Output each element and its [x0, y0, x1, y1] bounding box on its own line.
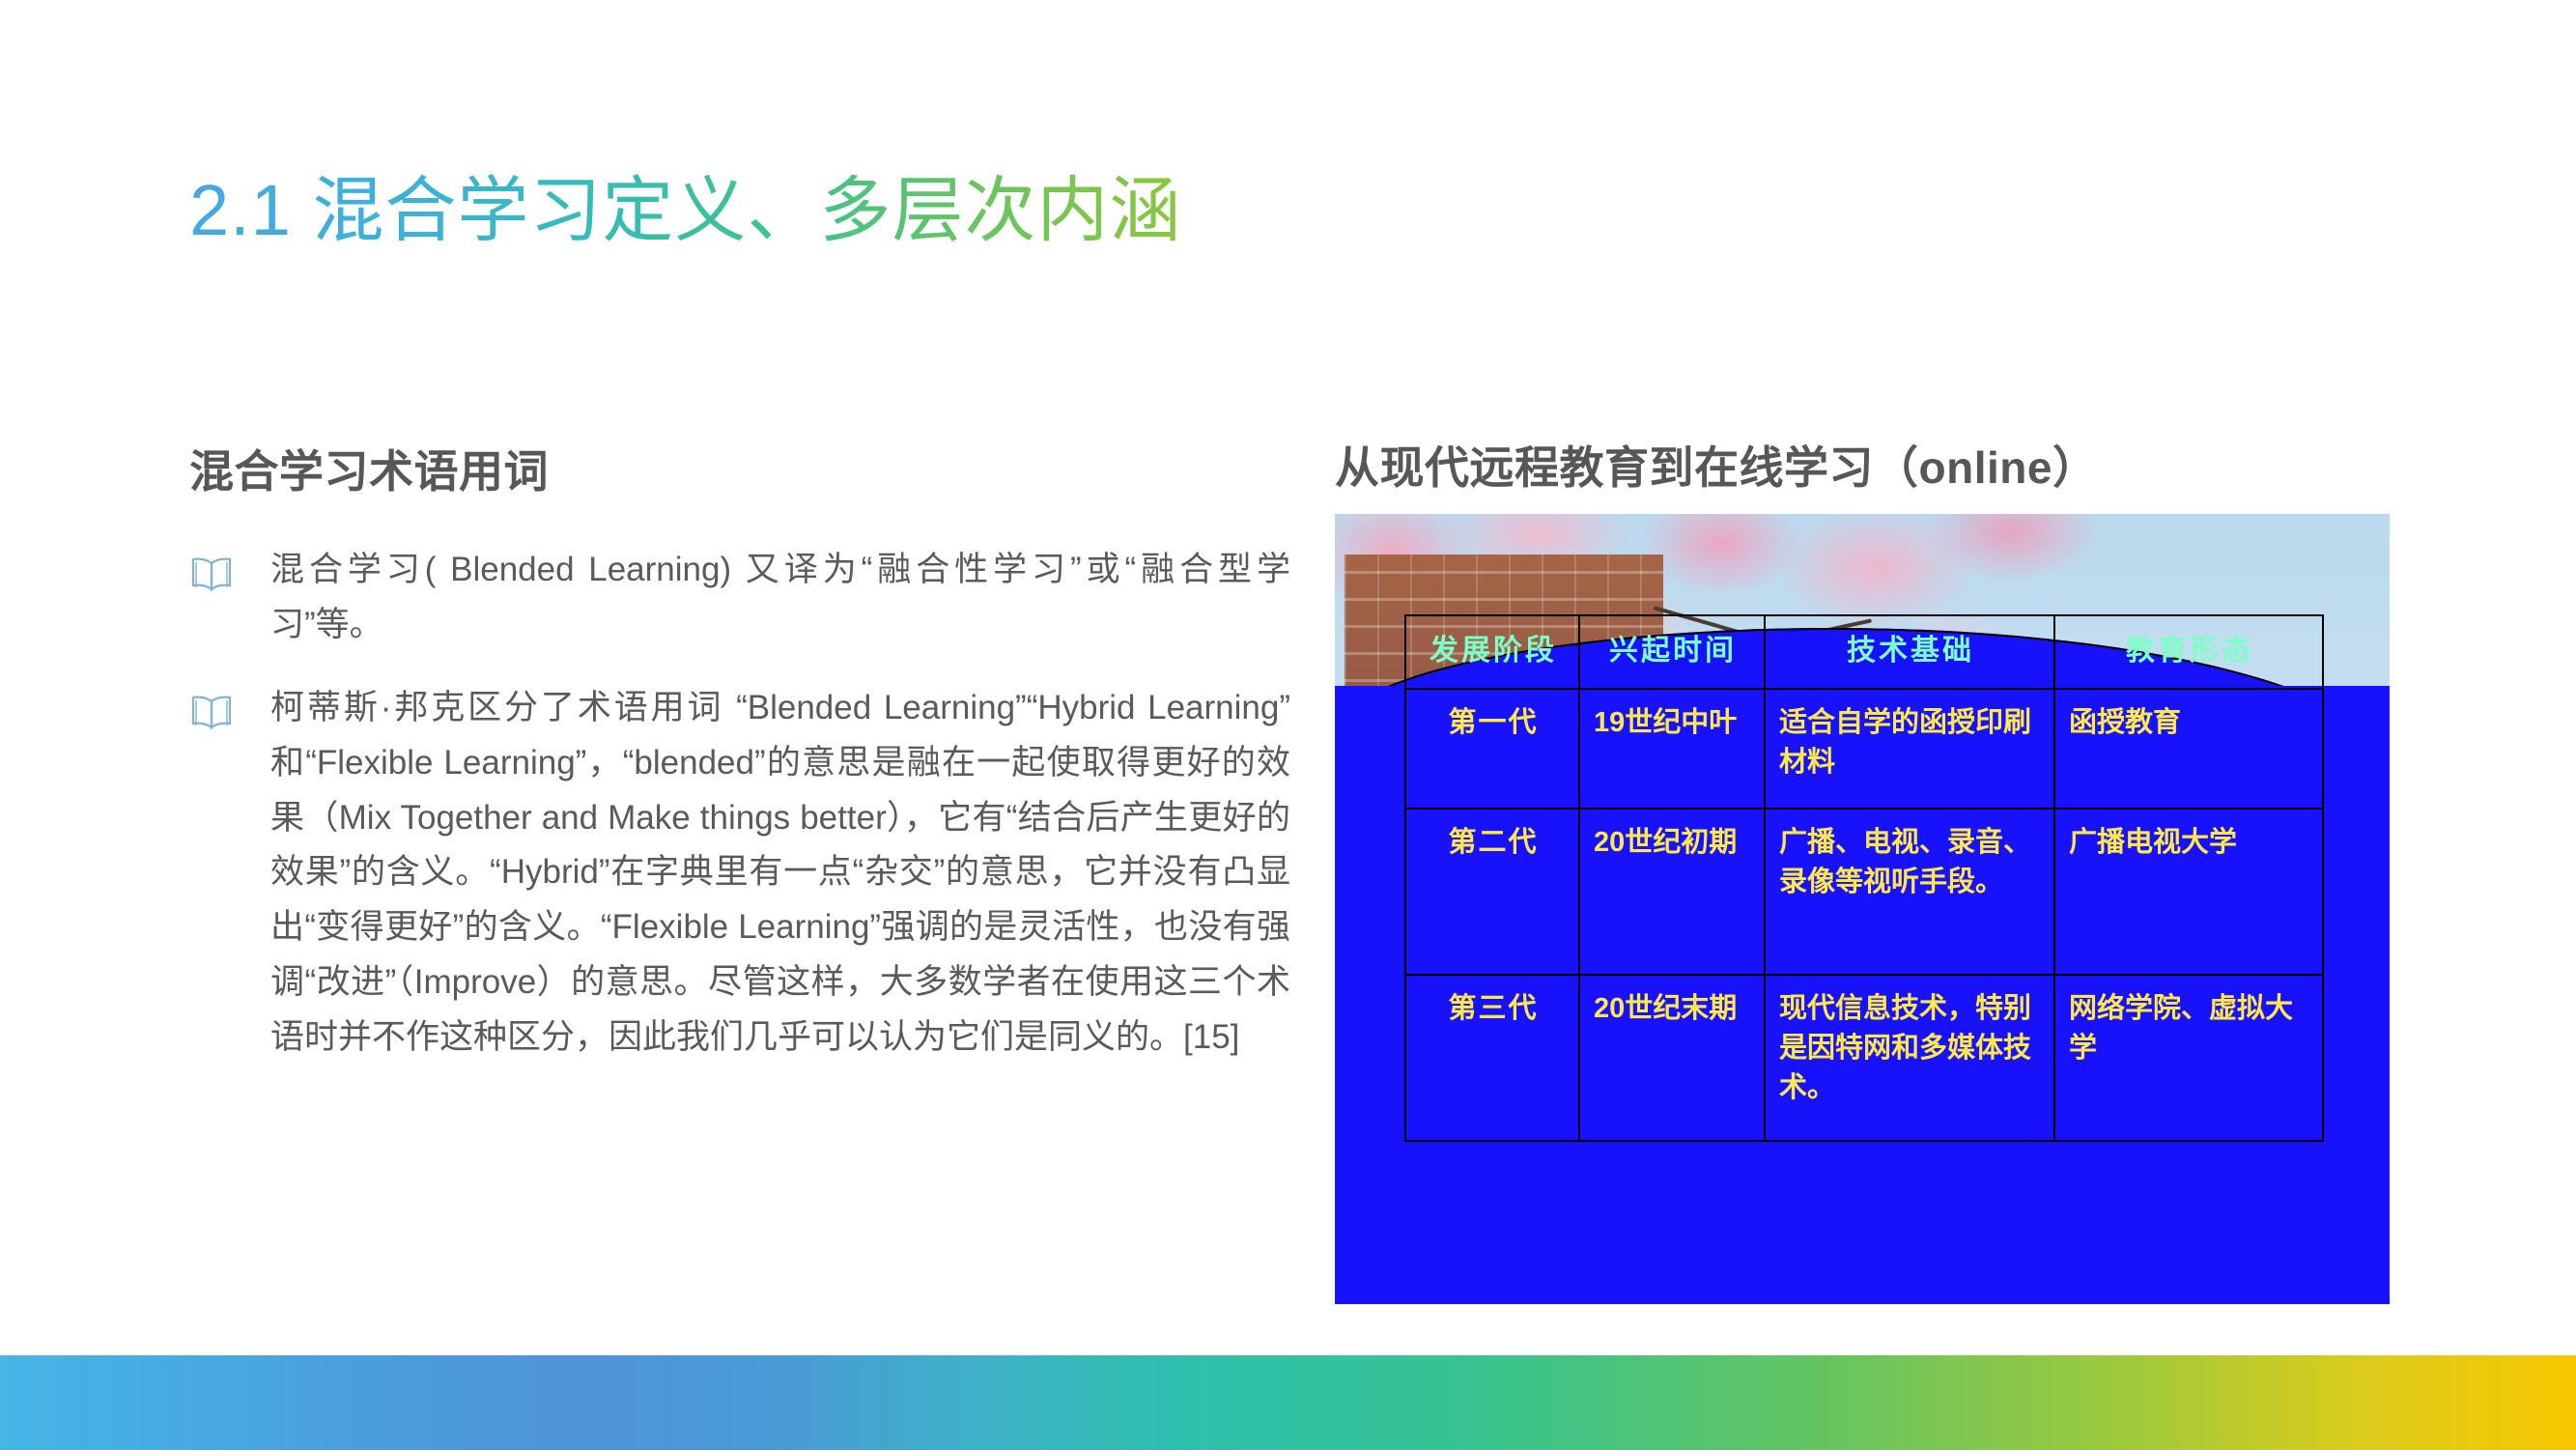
cell-stage: 第三代 [1405, 975, 1579, 1141]
column-header-form: 教育形态 [2054, 615, 2323, 689]
column-header-technology: 技术基础 [1765, 615, 2054, 689]
cell-form: 广播电视大学 [2054, 809, 2323, 975]
table-header-row: 发展阶段 兴起时间 技术基础 教育形态 [1405, 615, 2323, 689]
table-row: 第一代 19世纪中叶 适合自学的函授印刷材料 函授教育 [1405, 689, 2323, 809]
cell-technology: 适合自学的函授印刷材料 [1765, 689, 2054, 809]
cell-stage: 第二代 [1405, 809, 1579, 975]
cell-period: 20世纪初期 [1579, 809, 1765, 975]
list-item: 柯蒂斯·邦克区分了术语用词 “Blended Learning”“Hybrid … [189, 681, 1290, 1065]
cell-technology: 现代信息技术，特别是因特网和多媒体技术。 [1765, 975, 2054, 1141]
generations-figure: 发展阶段 兴起时间 技术基础 教育形态 第一代 19世纪中叶 适合自学的函授印刷… [1335, 514, 2390, 1304]
left-column: 混合学习术语用词 混合学习( Blended Learning) 又译为“融合性… [189, 437, 1290, 1094]
open-book-icon [189, 693, 234, 731]
right-section-heading: 从现代远程教育到在线学习（online） [1335, 433, 2397, 497]
open-book-icon [189, 554, 234, 593]
list-item: 混合学习( Blended Learning) 又译为“融合性学习”或“融合型学… [189, 543, 1290, 652]
right-column: 从现代远程教育到在线学习（online） 发展阶段 兴起时间 技术基础 教育形态 [1335, 433, 2397, 1304]
generations-table: 发展阶段 兴起时间 技术基础 教育形态 第一代 19世纪中叶 适合自学的函授印刷… [1404, 614, 2324, 1142]
table-row: 第三代 20世纪末期 现代信息技术，特别是因特网和多媒体技术。 网络学院、虚拟大… [1405, 975, 2323, 1141]
cell-period: 19世纪中叶 [1579, 689, 1765, 809]
footer-gradient-bar [0, 1355, 2576, 1450]
table-row: 第二代 20世纪初期 广播、电视、录音、录像等视听手段。 广播电视大学 [1405, 809, 2323, 975]
page-title: 2.1 混合学习定义、多层次内涵 [189, 153, 1181, 256]
list-item-text: 柯蒂斯·邦克区分了术语用词 “Blended Learning”“Hybrid … [270, 681, 1290, 1065]
cell-form: 函授教育 [2054, 689, 2323, 809]
cell-technology: 广播、电视、录音、录像等视听手段。 [1765, 809, 2054, 975]
column-header-period: 兴起时间 [1579, 615, 1765, 689]
column-header-stage: 发展阶段 [1405, 615, 1579, 689]
slide: 2.1 混合学习定义、多层次内涵 混合学习术语用词 混合学习( Blended … [0, 0, 2576, 1450]
bullet-list: 混合学习( Blended Learning) 又译为“融合性学习”或“融合型学… [189, 543, 1290, 1065]
left-section-heading: 混合学习术语用词 [189, 437, 1290, 500]
list-item-text: 混合学习( Blended Learning) 又译为“融合性学习”或“融合型学… [270, 543, 1290, 652]
cell-form: 网络学院、虚拟大学 [2054, 975, 2323, 1141]
cell-period: 20世纪末期 [1579, 975, 1765, 1141]
cell-stage: 第一代 [1405, 689, 1579, 809]
